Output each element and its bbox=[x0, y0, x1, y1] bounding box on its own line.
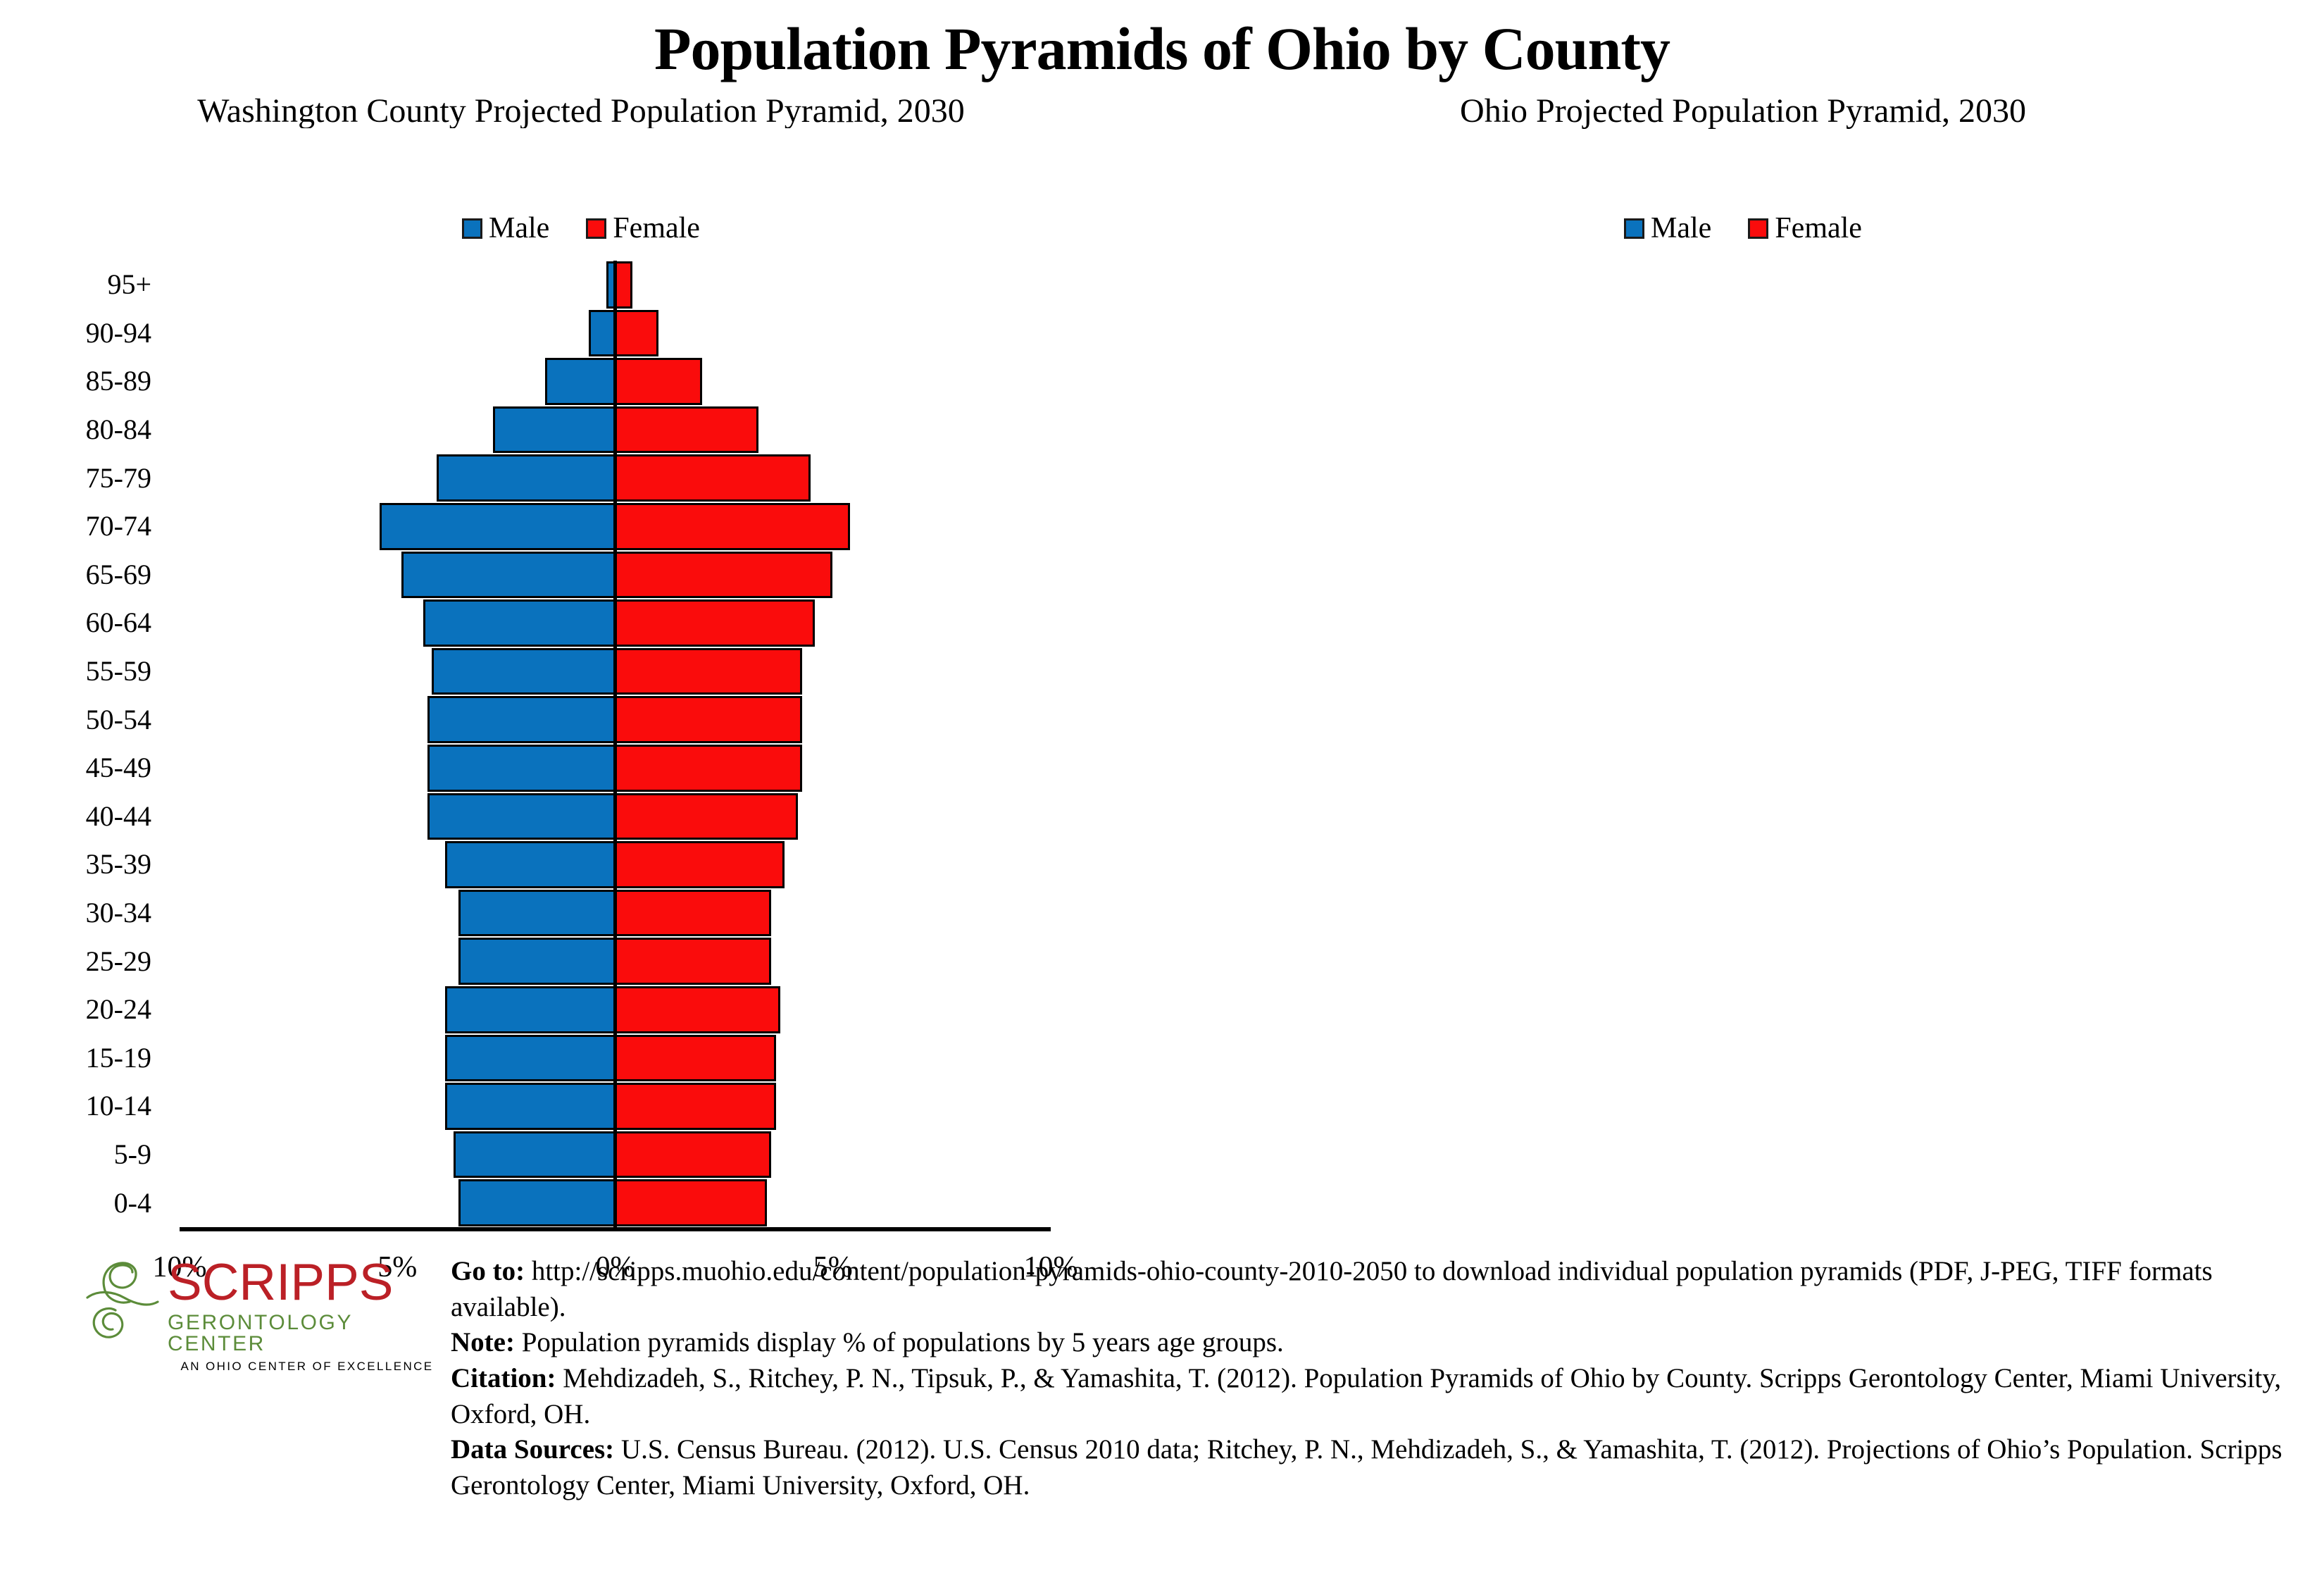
age-group-label: 20-24 bbox=[86, 995, 151, 1024]
bar-male bbox=[427, 793, 615, 840]
age-group-label: 85-89 bbox=[86, 367, 151, 395]
bar-male bbox=[493, 406, 615, 454]
bar-male bbox=[445, 1035, 615, 1082]
pyramid-row: 45-49 bbox=[1162, 744, 2324, 792]
bar-female bbox=[615, 1083, 776, 1130]
age-group-label: 15-19 bbox=[86, 1044, 151, 1072]
pyramid-row: 95+ bbox=[1162, 261, 2324, 309]
chart-panel-washington: Washington County Projected Population P… bbox=[0, 79, 1162, 1178]
pyramid-row: 80-84 bbox=[1162, 406, 2324, 454]
age-group-label: 35-39 bbox=[86, 850, 151, 878]
pyramid-row: 65-69 bbox=[1162, 551, 2324, 599]
page-title: Population Pyramids of Ohio by County bbox=[0, 0, 2324, 79]
pyramid-row: 5-9 bbox=[1162, 1131, 2324, 1179]
age-group-label: 65-69 bbox=[86, 561, 151, 589]
bar-female bbox=[615, 890, 771, 937]
goto-label: Go to: bbox=[451, 1256, 525, 1286]
bar-female bbox=[615, 552, 832, 599]
center-axis bbox=[613, 261, 617, 1227]
bar-male bbox=[423, 599, 615, 647]
pyramid-row: 75-79 bbox=[1162, 454, 2324, 502]
pyramid-row: 10-14 bbox=[0, 1082, 1162, 1131]
pyramid-row: 75-79 bbox=[0, 454, 1162, 502]
pyramid-row: 60-64 bbox=[1162, 599, 2324, 647]
pyramid-row: 0-4 bbox=[1162, 1179, 2324, 1227]
pyramid-row: 70-74 bbox=[0, 502, 1162, 551]
age-group-label: 70-74 bbox=[86, 512, 151, 540]
age-group-label: 80-84 bbox=[86, 416, 151, 444]
bar-female bbox=[615, 358, 702, 405]
goto-line: Go to: http://scripps.muohio.edu/content… bbox=[451, 1254, 2289, 1325]
bar-male bbox=[458, 1179, 615, 1226]
pyramid-row: 5-9 bbox=[0, 1131, 1162, 1179]
bar-male bbox=[401, 552, 615, 599]
pyramid-row: 65-69 bbox=[0, 551, 1162, 599]
bar-female bbox=[615, 745, 802, 792]
sources-text: U.S. Census Bureau. (2012). U.S. Census … bbox=[451, 1434, 2282, 1500]
pyramid-row: 30-34 bbox=[1162, 889, 2324, 938]
bar-female bbox=[615, 793, 798, 840]
pyramid-row: 0-4 bbox=[0, 1179, 1162, 1227]
age-group-label: 30-34 bbox=[86, 899, 151, 927]
bar-male bbox=[458, 890, 615, 937]
logo-wordmark: SCRIPPS bbox=[168, 1258, 451, 1307]
bar-female bbox=[615, 406, 758, 454]
pyramid-row: 55-59 bbox=[0, 647, 1162, 696]
pyramid-rows: 95+90-9485-8980-8475-7970-7465-6960-6455… bbox=[1162, 261, 2324, 1227]
pyramid-row: 20-24 bbox=[1162, 986, 2324, 1034]
pyramid-row: 85-89 bbox=[0, 357, 1162, 406]
age-group-label: 45-49 bbox=[86, 754, 151, 782]
pyramid-row: 40-44 bbox=[1162, 792, 2324, 841]
pyramid-row: 15-19 bbox=[0, 1034, 1162, 1083]
pyramid-row: 95+ bbox=[0, 261, 1162, 309]
pyramid-row: 85-89 bbox=[1162, 357, 2324, 406]
pyramid-row: 90-94 bbox=[1162, 309, 2324, 358]
bar-male bbox=[445, 986, 615, 1033]
logo-subtitle: GERONTOLOGY CENTER bbox=[168, 1312, 451, 1355]
bar-female bbox=[615, 938, 771, 985]
bar-female bbox=[615, 986, 780, 1033]
pyramid-row: 50-54 bbox=[0, 695, 1162, 744]
bar-male bbox=[454, 1131, 615, 1179]
age-group-label: 60-64 bbox=[86, 609, 151, 637]
bar-female bbox=[615, 261, 632, 309]
bar-male bbox=[380, 503, 615, 550]
citation-line: Citation: Mehdizadeh, S., Ritchey, P. N.… bbox=[451, 1361, 2289, 1432]
note-text: Population pyramids display % of populat… bbox=[515, 1327, 1284, 1357]
pyramid-row: 80-84 bbox=[0, 406, 1162, 454]
pyramid-row: 20-24 bbox=[0, 986, 1162, 1034]
age-group-label: 55-59 bbox=[86, 657, 151, 685]
pyramid-row: 45-49 bbox=[0, 744, 1162, 792]
bar-female bbox=[615, 1035, 776, 1082]
age-group-label: 40-44 bbox=[86, 802, 151, 831]
bar-male bbox=[427, 696, 615, 743]
pyramid-row: 30-34 bbox=[0, 889, 1162, 938]
pyramid-row: 40-44 bbox=[0, 792, 1162, 841]
note-label: Note: bbox=[451, 1327, 515, 1357]
pyramid-row: 55-59 bbox=[1162, 647, 2324, 696]
bar-female bbox=[615, 310, 658, 357]
bar-male bbox=[545, 358, 615, 405]
logo-tagline: AN OHIO CENTER OF EXCELLENCE bbox=[168, 1360, 451, 1372]
bar-female bbox=[615, 1131, 771, 1179]
bar-female bbox=[615, 696, 802, 743]
scripps-logo: SCRIPPS GERONTOLOGY CENTER AN OHIO CENTE… bbox=[0, 1224, 451, 1372]
sources-line: Data Sources: U.S. Census Bureau. (2012)… bbox=[451, 1432, 2289, 1503]
bar-male bbox=[445, 841, 615, 888]
goto-text: http://scripps.muohio.edu/content/popula… bbox=[451, 1256, 2213, 1322]
age-group-label: 10-14 bbox=[86, 1092, 151, 1120]
age-group-label: 0-4 bbox=[114, 1189, 151, 1217]
bar-female bbox=[615, 503, 850, 550]
bar-male bbox=[432, 648, 615, 695]
citation-label: Citation: bbox=[451, 1363, 556, 1393]
pyramid-plot-washington: 95+90-9485-8980-8475-7970-7465-6960-6455… bbox=[0, 79, 1162, 1178]
bar-female bbox=[615, 1179, 767, 1226]
bar-male bbox=[589, 310, 615, 357]
age-group-label: 25-29 bbox=[86, 947, 151, 976]
citation-text: Mehdizadeh, S., Ritchey, P. N., Tipsuk, … bbox=[451, 1363, 2281, 1429]
pyramid-row: 70-74 bbox=[1162, 502, 2324, 551]
bar-male bbox=[458, 938, 615, 985]
charts-row: Washington County Projected Population P… bbox=[0, 79, 2324, 1178]
pyramid-row: 10-14 bbox=[1162, 1082, 2324, 1131]
age-group-label: 95+ bbox=[107, 271, 151, 299]
pyramid-row: 35-39 bbox=[1162, 840, 2324, 889]
age-group-label: 5-9 bbox=[114, 1140, 151, 1169]
bar-female bbox=[615, 648, 802, 695]
pyramid-row: 50-54 bbox=[1162, 695, 2324, 744]
bar-female bbox=[615, 841, 785, 888]
pyramid-plot-ohio: 95+90-9485-8980-8475-7970-7465-6960-6455… bbox=[1162, 79, 2324, 1178]
note-line: Note: Population pyramids display % of p… bbox=[451, 1325, 2289, 1361]
footer: SCRIPPS GERONTOLOGY CENTER AN OHIO CENTE… bbox=[0, 1224, 2324, 1585]
bar-male bbox=[437, 454, 615, 502]
pyramid-row: 35-39 bbox=[0, 840, 1162, 889]
footer-notes: Go to: http://scripps.muohio.edu/content… bbox=[451, 1224, 2324, 1504]
bar-male bbox=[427, 745, 615, 792]
bar-female bbox=[615, 599, 815, 647]
pyramid-row: 15-19 bbox=[1162, 1034, 2324, 1083]
age-group-label: 75-79 bbox=[86, 464, 151, 492]
sources-label: Data Sources: bbox=[451, 1434, 614, 1465]
pyramid-row: 60-64 bbox=[0, 599, 1162, 647]
bar-female bbox=[615, 454, 811, 502]
scripps-swirl-icon bbox=[83, 1261, 162, 1347]
age-group-label: 90-94 bbox=[86, 319, 151, 347]
chart-panel-ohio: Ohio Projected Population Pyramid, 2030 … bbox=[1162, 79, 2324, 1178]
bar-male bbox=[445, 1083, 615, 1130]
pyramid-row: 25-29 bbox=[0, 937, 1162, 986]
pyramid-rows: 95+90-9485-8980-8475-7970-7465-6960-6455… bbox=[0, 261, 1162, 1227]
pyramid-row: 25-29 bbox=[1162, 937, 2324, 986]
age-group-label: 50-54 bbox=[86, 706, 151, 734]
pyramid-row: 90-94 bbox=[0, 309, 1162, 358]
